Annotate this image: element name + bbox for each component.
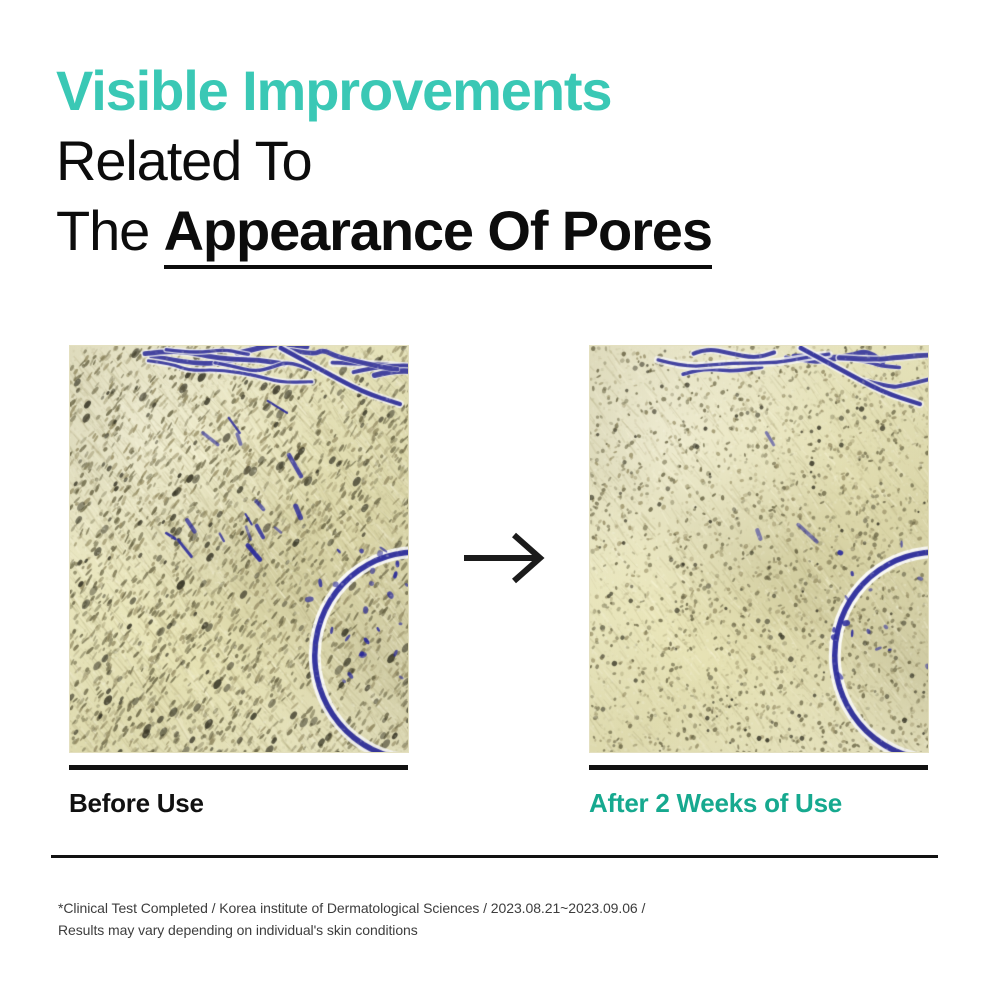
before-rule <box>69 765 408 770</box>
before-photo <box>69 345 409 753</box>
after-photo <box>589 345 929 753</box>
footnote-line-2: Results may vary depending on individual… <box>58 919 938 941</box>
before-panel: Before Use <box>69 345 409 818</box>
footnote: *Clinical Test Completed / Korea institu… <box>58 897 938 941</box>
page-title: Visible Improvements Related To The Appe… <box>56 56 956 266</box>
headline-line-3: The Appearance Of Pores <box>56 196 956 266</box>
before-after-comparison: Before Use After 2 Weeks of Use <box>0 345 1000 825</box>
footer-divider <box>51 855 938 858</box>
arrow-right-icon <box>462 530 552 586</box>
headline-line-3-prefix: The <box>56 199 164 262</box>
before-skin-image <box>70 346 409 753</box>
headline-line-1: Visible Improvements <box>56 56 956 126</box>
after-caption: After 2 Weeks of Use <box>589 788 929 818</box>
before-caption: Before Use <box>69 788 409 818</box>
after-skin-image <box>590 346 929 753</box>
footnote-line-1: *Clinical Test Completed / Korea institu… <box>58 897 938 919</box>
after-rule <box>589 765 928 770</box>
headline-line-2: Related To <box>56 126 956 196</box>
promo-page: Visible Improvements Related To The Appe… <box>0 0 1000 1000</box>
headline-emphasis: Appearance Of Pores <box>164 199 712 269</box>
after-panel: After 2 Weeks of Use <box>589 345 929 818</box>
